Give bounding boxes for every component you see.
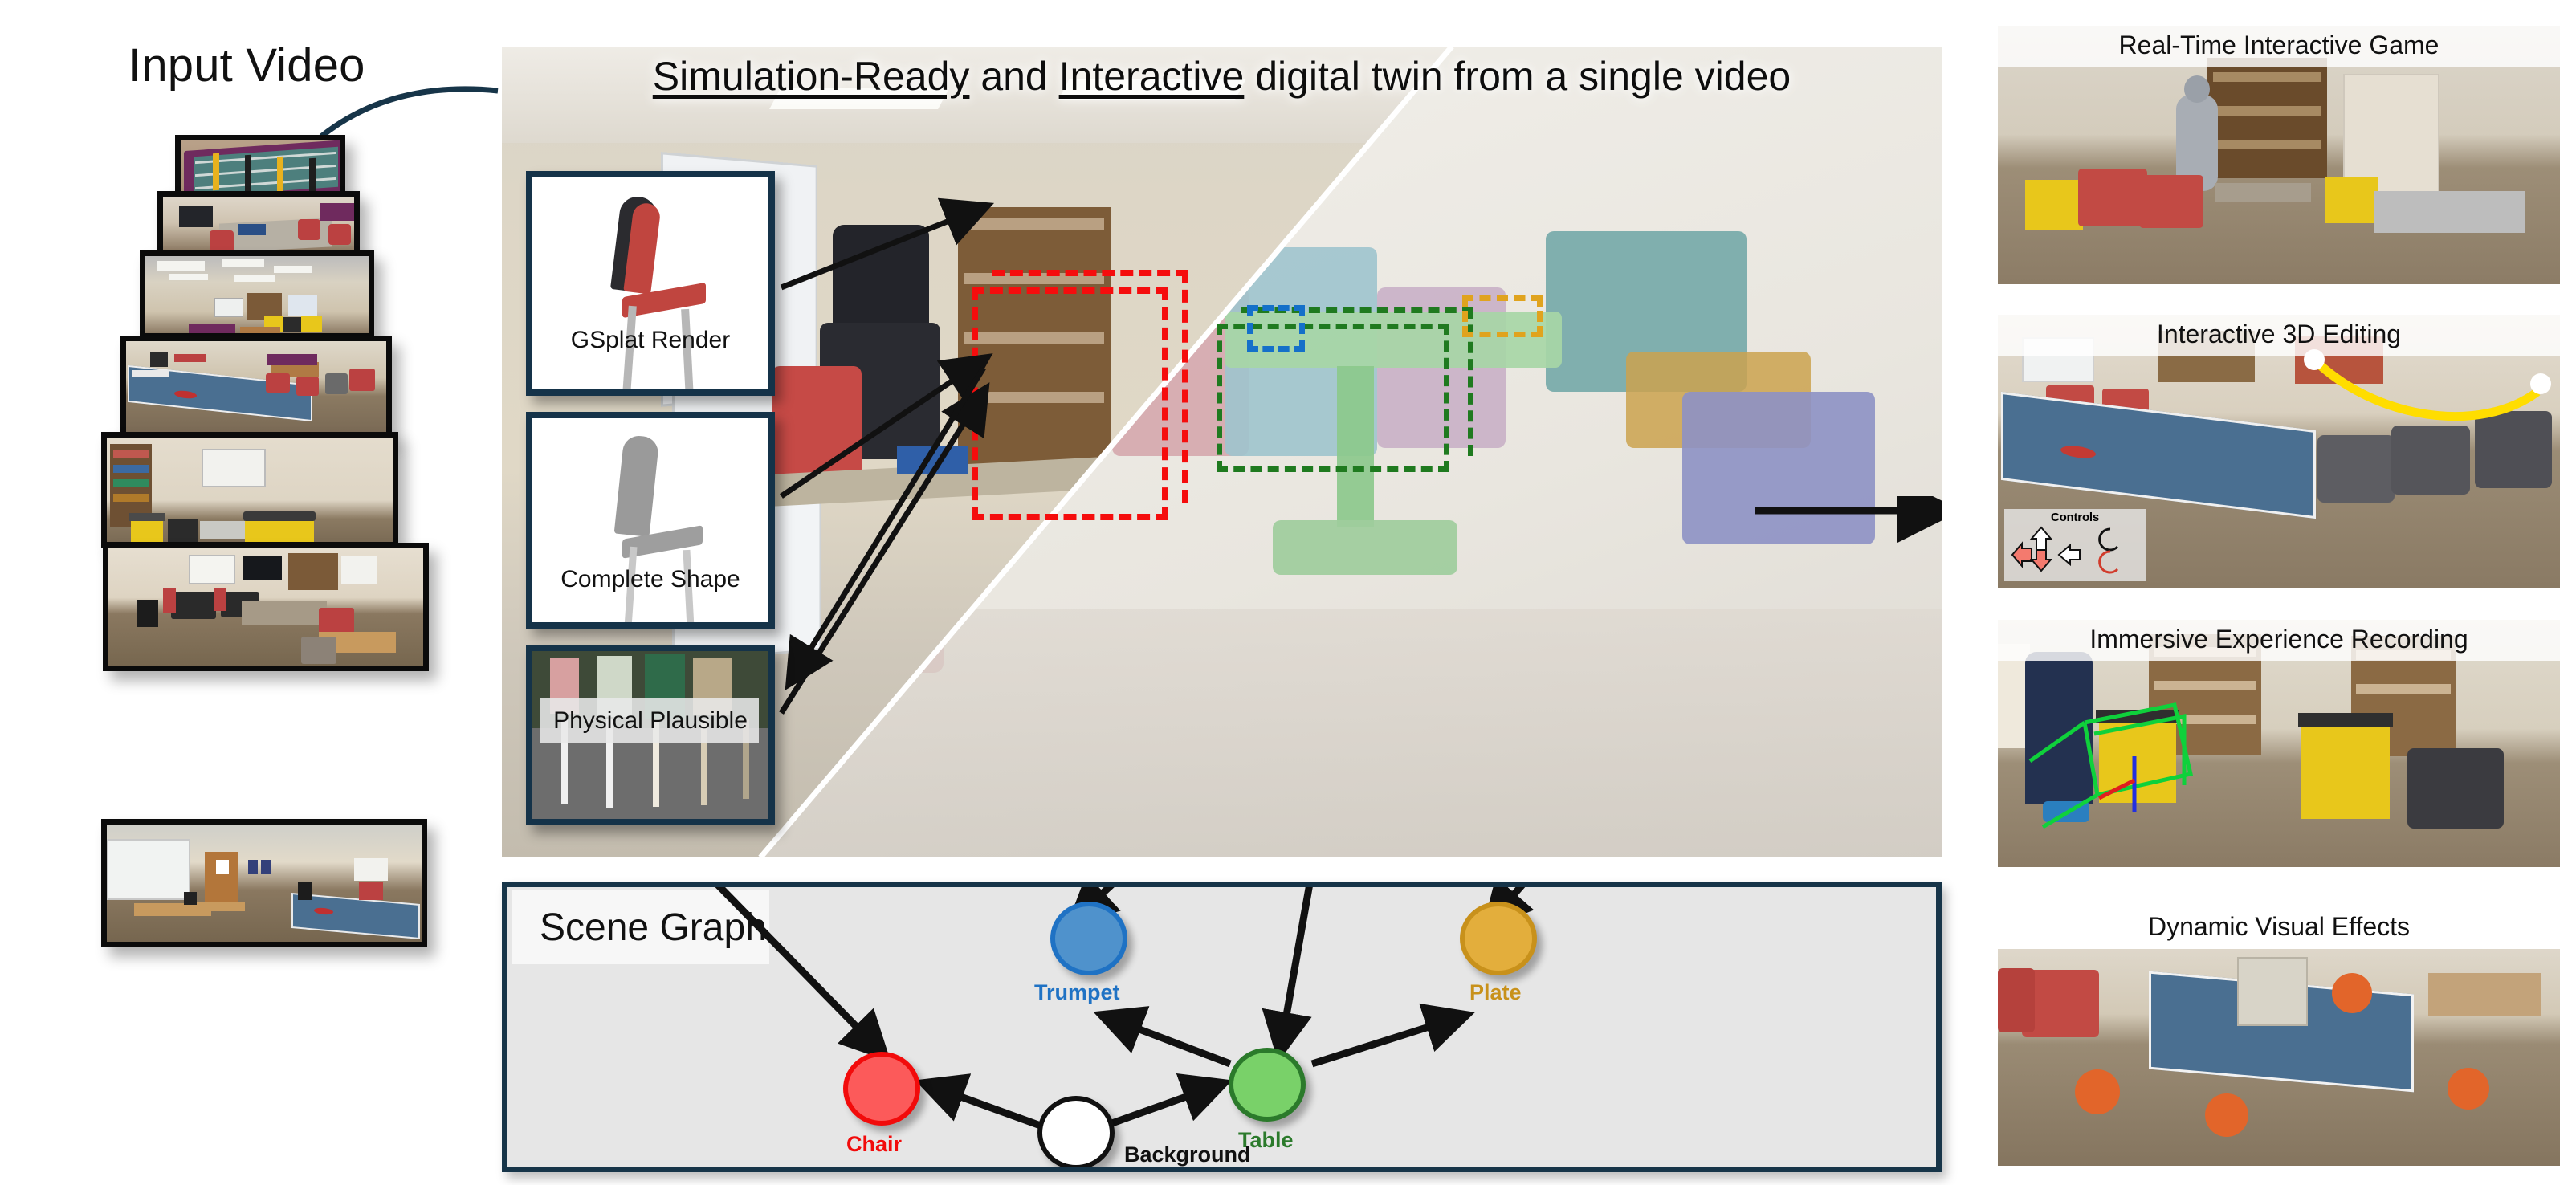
scene-graph-edges xyxy=(507,887,1942,1172)
applications-column: Real-Time Interactive Game xyxy=(1959,0,2576,1185)
right-pointer-arrow xyxy=(1755,496,1942,544)
gsplat-render-label: GSplat Render xyxy=(532,327,768,354)
complete-shape-label: Complete Shape xyxy=(532,566,768,593)
left-arrow-icon xyxy=(2012,544,2032,566)
node-plate-label: Plate xyxy=(1469,980,1522,1005)
blue-bin xyxy=(897,446,968,474)
edge-background-chair xyxy=(925,1084,1047,1128)
rotate-cw-icon xyxy=(2100,552,2117,572)
red-chair xyxy=(772,366,862,487)
basketball xyxy=(2075,1069,2120,1114)
controls-overlay[interactable]: Controls xyxy=(2004,509,2146,581)
node-trumpet-label: Trumpet xyxy=(1034,980,1120,1005)
controls-icons[interactable] xyxy=(2004,524,2146,574)
main-scene-panel: Simulation-Ready and Interactive digital… xyxy=(502,47,1942,857)
basketball xyxy=(2332,973,2372,1013)
edge-background-table xyxy=(1098,1084,1222,1128)
node-chair[interactable] xyxy=(843,1052,920,1126)
thumbnail-stools-tables[interactable] xyxy=(103,543,429,671)
right-arrow-icon xyxy=(2059,545,2080,564)
down-arrow-icon xyxy=(2032,550,2051,571)
edge-table-trumpet xyxy=(1103,1016,1230,1064)
interactive-3d-editing-caption: Interactive 3D Editing xyxy=(1998,315,2560,356)
title-tail: digital twin from a single video xyxy=(1244,54,1791,99)
edge-table-plate xyxy=(1312,1016,1465,1064)
node-background-label: Background xyxy=(1124,1142,1251,1167)
edge-from-chair-box xyxy=(712,887,883,1054)
table xyxy=(2215,183,2311,202)
real-time-interactive-game-caption: Real-Time Interactive Game xyxy=(1998,26,2560,67)
editing-scene: Controls xyxy=(1998,315,2560,588)
controls-title: Controls xyxy=(2004,511,2146,524)
figure-root: Input Video xyxy=(0,0,2576,1185)
input-video-column: Input Video xyxy=(0,0,498,1185)
yellow-bin xyxy=(2025,180,2083,230)
scene-graph-panel: Scene Graph Chair xyxy=(502,882,1942,1172)
thumbnail-bookshelf-bins[interactable] xyxy=(101,432,398,548)
red-chair xyxy=(2078,169,2147,226)
title-and: and xyxy=(969,54,1058,99)
node-chair-label: Chair xyxy=(846,1132,902,1157)
node-table[interactable] xyxy=(1229,1048,1306,1122)
title-simulation-ready: Simulation-Ready xyxy=(653,54,970,99)
thumbnail-whiteboard-door[interactable] xyxy=(101,819,427,947)
physical-plausible-card[interactable]: Physical Plausible xyxy=(526,645,775,825)
node-trumpet[interactable] xyxy=(1050,902,1127,975)
gsplat-render-card[interactable]: GSplat Render xyxy=(526,171,775,396)
dynamic-visual-effects-panel[interactable]: Dynamic Visual Effects xyxy=(1998,907,2560,1166)
edge-from-table-box xyxy=(1280,887,1310,1052)
rotate-ccw-icon xyxy=(2100,529,2117,550)
node-background[interactable] xyxy=(1037,1096,1115,1170)
plate-bbox[interactable] xyxy=(1462,295,1543,337)
title-interactive: Interactive xyxy=(1059,54,1245,99)
up-arrow-icon xyxy=(2032,527,2051,550)
basketball xyxy=(2205,1093,2248,1137)
thumbnail-wide-classroom[interactable] xyxy=(140,250,374,339)
page-title: Simulation-Ready and Interactive digital… xyxy=(502,47,1942,100)
shelf xyxy=(964,218,1104,230)
immersive-experience-recording-caption: Immersive Experience Recording xyxy=(1998,620,2560,661)
interactive-3d-editing-panel[interactable]: Controls Interactive 3D Editing xyxy=(1998,315,2560,588)
thumbnail-ping-pong[interactable] xyxy=(120,336,392,438)
chair-bbox-depth xyxy=(992,270,1188,503)
physical-plausible-label: Physical Plausible xyxy=(532,707,768,735)
trumpet-bbox[interactable] xyxy=(1247,305,1305,352)
red-chair xyxy=(2139,175,2203,228)
node-plate[interactable] xyxy=(1460,902,1537,975)
complete-shape-card[interactable]: Complete Shape xyxy=(526,412,775,629)
table xyxy=(2428,973,2541,1016)
counter xyxy=(2374,191,2525,233)
immersive-experience-recording-panel[interactable]: Immersive Experience Recording xyxy=(1998,620,2560,867)
vfx-scene xyxy=(1998,949,2560,1166)
real-time-interactive-game-panel[interactable]: Real-Time Interactive Game xyxy=(1998,26,2560,284)
yellow-bin xyxy=(2325,177,2378,223)
dynamic-visual-effects-caption: Dynamic Visual Effects xyxy=(1998,907,2560,948)
net xyxy=(2237,957,2308,1026)
basketball xyxy=(2448,1068,2489,1110)
thumbnail-classroom-desks[interactable] xyxy=(157,191,360,257)
office-chair-back xyxy=(833,225,929,329)
thumbnail-foosball[interactable] xyxy=(175,135,345,197)
